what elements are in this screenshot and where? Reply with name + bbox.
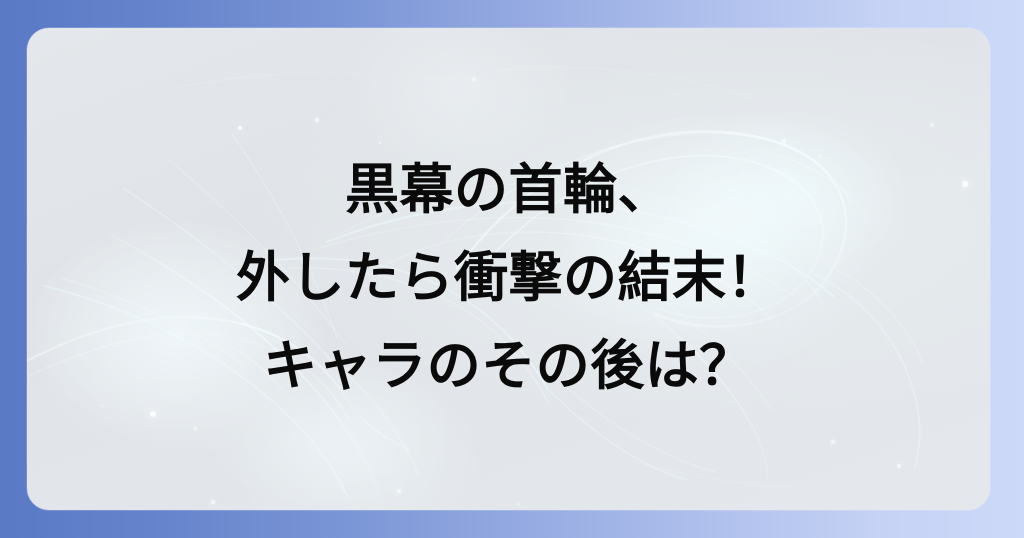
smoke-glow-layer — [27, 28, 990, 510]
headline-line-3: キャラのその後は？ — [27, 322, 990, 410]
sparkle-dot — [238, 126, 243, 131]
sparkle-dot — [930, 123, 933, 126]
sparkle-dot — [831, 440, 834, 443]
sparkle-dot — [101, 405, 104, 408]
sparkle-dot — [397, 489, 400, 492]
sparkle-dot — [194, 427, 197, 430]
sparkle-dot — [819, 155, 822, 158]
sparkle-dot — [676, 119, 679, 122]
sparkle-dot — [962, 181, 967, 186]
smoke-wisp-layer — [27, 28, 990, 510]
headline-line-2: 外したら衝撃の結末！ — [27, 234, 990, 322]
thumbnail-canvas: 黒幕の首輪、 外したら衝撃の結末！ キャラのその後は？ — [0, 0, 1024, 538]
sparkle-dot — [315, 118, 319, 122]
sparkle-dot — [472, 77, 475, 80]
headline-line-1: 黒幕の首輪、 — [27, 146, 990, 234]
sparkle-dot — [379, 142, 382, 145]
headline-block: 黒幕の首輪、 外したら衝撃の結末！ キャラのその後は？ — [27, 146, 990, 410]
content-card: 黒幕の首輪、 外したら衝撃の結末！ キャラのその後は？ — [27, 28, 990, 510]
sparkle-dot — [518, 503, 521, 506]
sparkle-layer — [27, 28, 990, 510]
sparkle-dot — [211, 500, 215, 504]
sparkle-dot — [897, 464, 901, 468]
sparkle-dot — [150, 411, 156, 417]
sparkle-dot — [782, 139, 786, 143]
